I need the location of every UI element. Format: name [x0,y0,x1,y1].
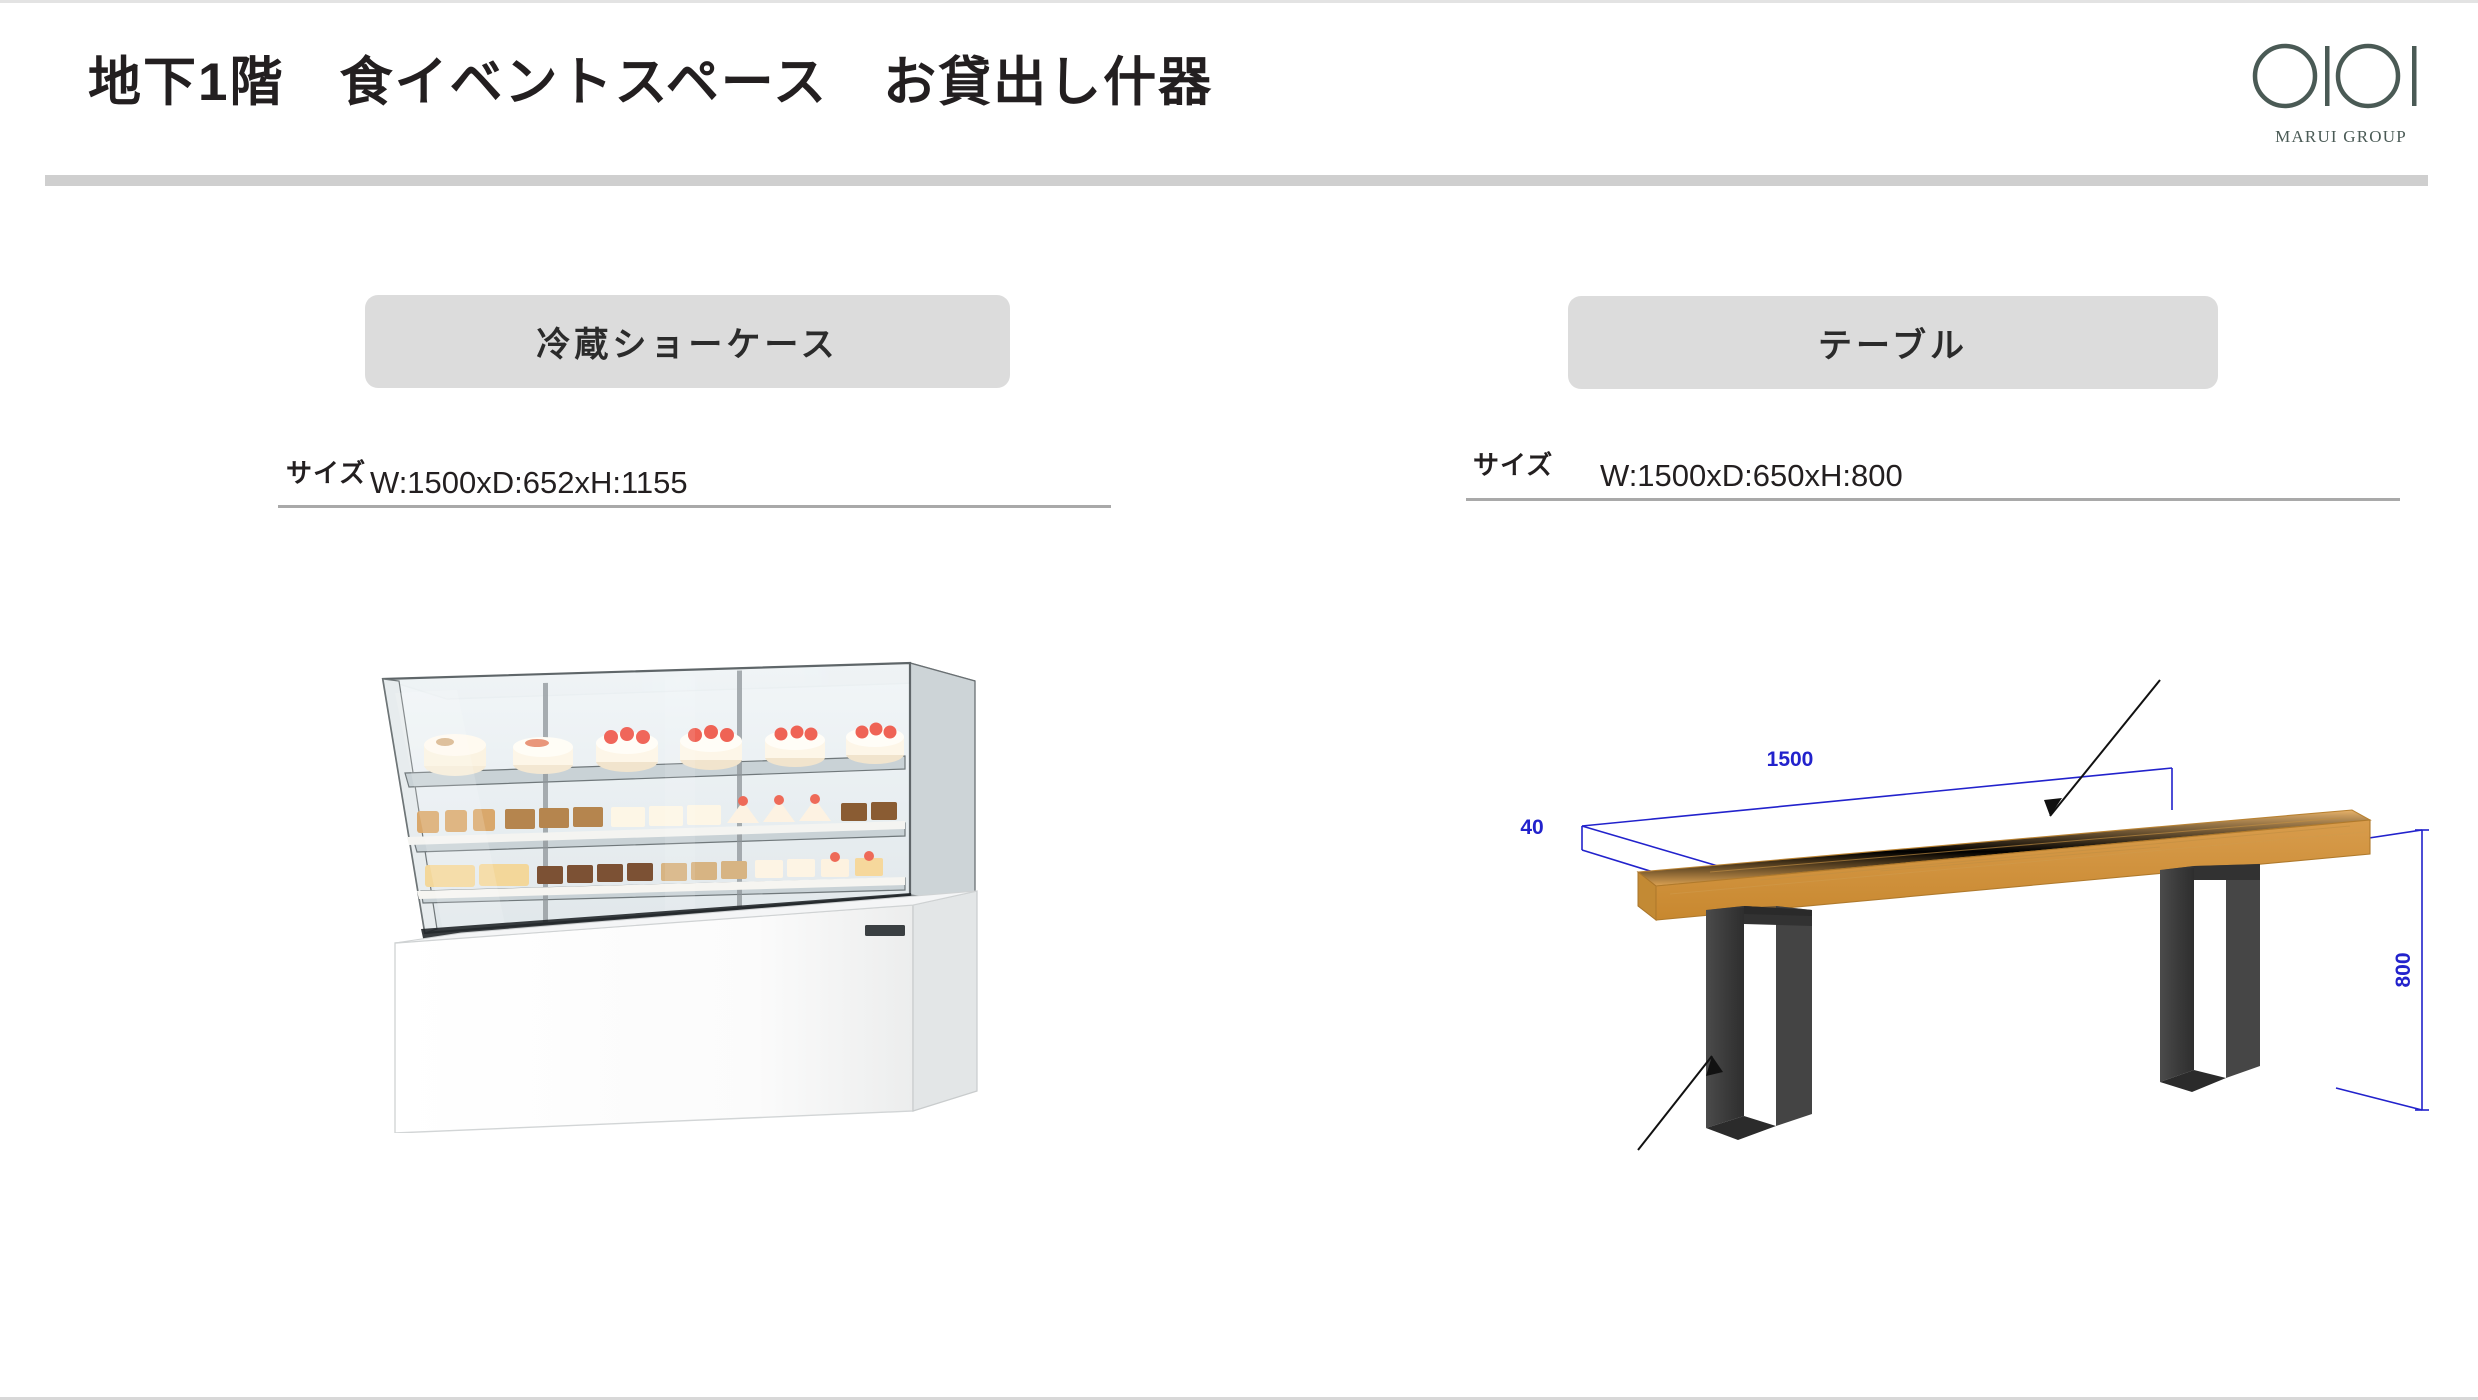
dimension-width-label: 1500 [1767,748,1814,771]
brand-wordmark: MARUI GROUP [2252,127,2430,147]
header-divider [45,175,2428,186]
refrigerated-showcase-photo [365,633,1025,1133]
size-value-refrigerated-showcase: W:1500xD:652xH:1155 [370,465,688,501]
table-dimension-drawing: 1500 40 800 [1460,658,2470,1178]
dimension-height-label: 800 [2392,952,2415,987]
section-header-label: 冷蔵ショーケース [536,317,838,366]
size-underline-table [1466,498,2400,501]
section-header-label: テーブル [1818,318,1968,367]
section-header-refrigerated-showcase: 冷蔵ショーケース [365,295,1010,388]
size-label-refrigerated-showcase: サイズ [286,453,366,490]
size-underline-refrigerated-showcase [278,505,1111,508]
dimension-depth-label: 40 [1520,816,1543,839]
page-title: 地下1階 食イベントスペース お貸出し什器 [88,51,1213,115]
section-header-table: テーブル [1568,296,2218,389]
slide-canvas: 地下1階 食イベントスペース お貸出し什器 MARUI GROUP 冷蔵ショーケ… [0,0,2478,1400]
size-label-table: サイズ [1473,445,1553,482]
size-value-table: W:1500xD:650xH:800 [1600,458,1903,494]
oioi-logo-icon [2252,33,2430,119]
